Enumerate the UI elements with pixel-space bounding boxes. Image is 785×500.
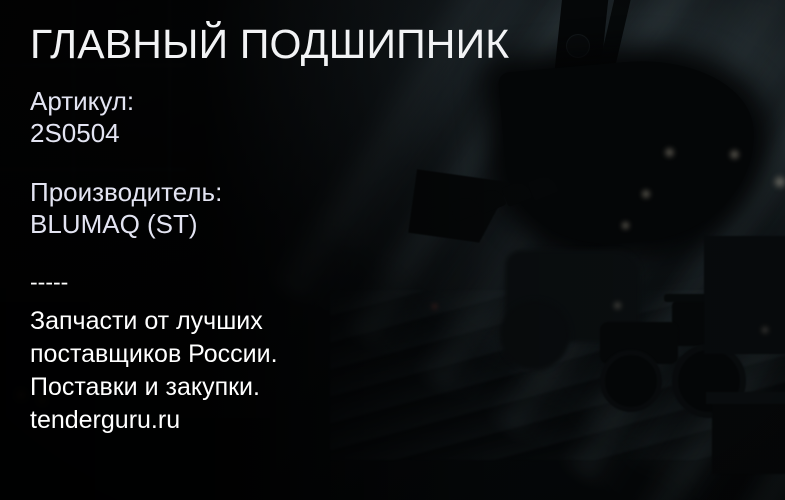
field-article-value: 2S0504 — [30, 117, 134, 149]
page-title: ГЛАВНЫЙ ПОДШИПНИК — [30, 24, 509, 65]
field-manufacturer-value: BLUMAQ (ST) — [30, 208, 222, 240]
field-manufacturer: Производитель: BLUMAQ (ST) — [30, 176, 222, 240]
card-content: ГЛАВНЫЙ ПОДШИПНИК Артикул: 2S0504 Произв… — [0, 0, 785, 500]
tagline: Запчасти от лучших поставщиков России. П… — [30, 305, 278, 437]
product-banner-card: ГЛАВНЫЙ ПОДШИПНИК Артикул: 2S0504 Произв… — [0, 0, 785, 500]
tagline-line-3: Поставки и закупки. — [30, 371, 278, 404]
tagline-line-1: Запчасти от лучших — [30, 305, 278, 338]
field-article-label: Артикул: — [30, 86, 134, 116]
field-manufacturer-label: Производитель: — [30, 177, 222, 207]
field-article: Артикул: 2S0504 — [30, 85, 134, 149]
tagline-line-2: поставщиков России. — [30, 338, 278, 371]
tagline-site-url[interactable]: tenderguru.ru — [30, 404, 278, 437]
divider: ----- — [30, 272, 68, 292]
